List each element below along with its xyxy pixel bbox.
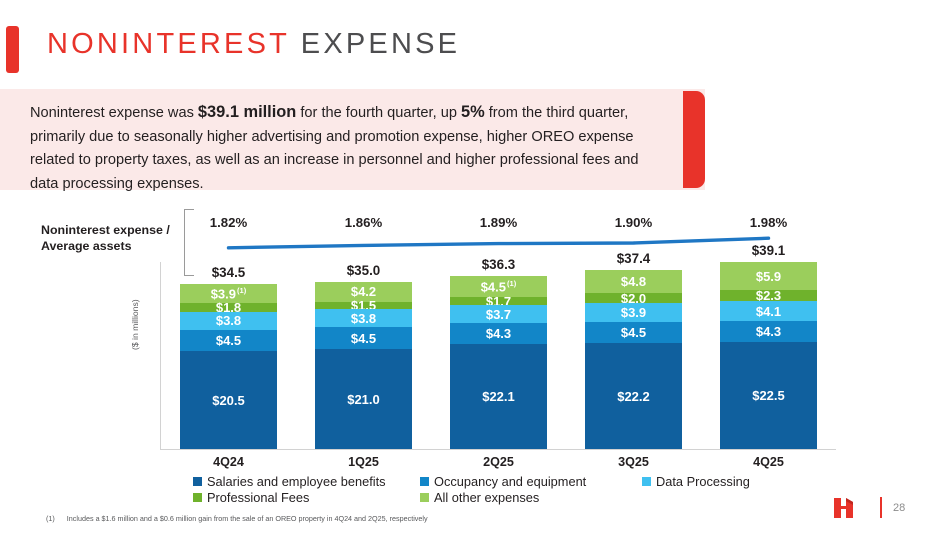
bar-segment[interactable]: $22.1 (450, 344, 547, 450)
legend-item[interactable]: Professional Fees (193, 490, 420, 505)
bar-segment-label: $4.5 (351, 332, 376, 345)
bar-segment[interactable]: $20.5 (180, 351, 277, 450)
bar-segment[interactable]: $3.8 (315, 309, 412, 327)
legend-item[interactable]: Data Processing (642, 474, 762, 489)
bar-segment[interactable]: $4.5 (180, 330, 277, 352)
legend-label: Professional Fees (207, 490, 309, 505)
ratio-value: 1.98% (734, 215, 804, 230)
h-logo-icon (832, 496, 862, 520)
x-axis-label: 4Q24 (180, 455, 277, 469)
bar-segment[interactable]: $3.9 (585, 303, 682, 322)
bar-segment[interactable]: $1.7 (450, 297, 547, 305)
bar-segment-label: $3.9(1) (211, 287, 247, 300)
bar-segment-label: $4.2 (351, 285, 376, 298)
bar-segment[interactable]: $4.8 (585, 270, 682, 293)
ratio-value: 1.86% (329, 215, 399, 230)
legend-item[interactable]: Occupancy and equipment (420, 474, 642, 489)
chart-legend: Salaries and employee benefitsOccupancy … (193, 473, 793, 505)
ratio-value: 1.89% (464, 215, 534, 230)
bar-segment-label: $4.5(1) (481, 280, 517, 293)
bar-total-label: $37.4 (585, 251, 682, 270)
bar-group[interactable]: $39.1$5.9$2.3$4.1$4.3$22.5 (720, 262, 817, 450)
bar-segment[interactable]: $2.0 (585, 293, 682, 303)
callout-bold-percent: 5% (461, 103, 485, 121)
bar-total-label: $39.1 (720, 243, 817, 262)
bar-segment[interactable]: $1.5 (315, 302, 412, 309)
bar-total-label: $35.0 (315, 263, 412, 282)
legend-label: Salaries and employee benefits (207, 474, 386, 489)
x-axis-label: 4Q25 (720, 455, 817, 469)
bar-segment-label: $4.3 (756, 325, 781, 338)
bar-group[interactable]: $35.0$4.2$1.5$3.8$4.5$21.0 (315, 282, 412, 450)
bar-segment-label: $4.3 (486, 327, 511, 340)
bar-segment-label: $4.5 (216, 334, 241, 347)
bar-segment-label: $3.8 (351, 312, 376, 325)
footer-divider (880, 497, 882, 518)
stacked-bar-chart: $34.5$3.9(1)$1.8$3.8$4.5$20.5$35.0$4.2$1… (160, 262, 836, 450)
bar-segment[interactable]: $4.5 (585, 322, 682, 344)
y-axis-title: ($ in millions) (130, 299, 140, 350)
title-accent-bar (6, 26, 19, 73)
bar-segment-label: $3.9 (621, 306, 646, 319)
callout-part-1: Noninterest expense was (30, 105, 198, 121)
bar-segment-label: $21.0 (347, 393, 380, 406)
ratio-value: 1.82% (194, 215, 264, 230)
legend-swatch (420, 493, 429, 502)
callout-accent-bar (683, 91, 705, 188)
bar-segment-label: $4.5 (621, 326, 646, 339)
page-title-highlight: NONINTEREST (47, 28, 290, 60)
callout-part-2: for the fourth quarter, up (296, 105, 461, 121)
callout-bold-amount: $39.1 million (198, 103, 296, 121)
bar-group[interactable]: $37.4$4.8$2.0$3.9$4.5$22.2 (585, 270, 682, 450)
callout-text: Noninterest expense was $39.1 million fo… (30, 101, 660, 196)
footnote-marker: (1) (46, 514, 55, 523)
bar-segment-label: $4.1 (756, 305, 781, 318)
bar-segment-label: $20.5 (212, 394, 245, 407)
bar-total-label: $34.5 (180, 265, 277, 284)
legend-item[interactable]: Salaries and employee benefits (193, 474, 420, 489)
legend-label: Data Processing (656, 474, 750, 489)
ratio-label-line-1: Noninterest expense / (41, 222, 186, 238)
legend-item[interactable]: All other expenses (420, 490, 642, 505)
legend-swatch (193, 493, 202, 502)
bar-segment-label: $22.1 (482, 390, 515, 403)
legend-label: Occupancy and equipment (434, 474, 586, 489)
page-number: 28 (893, 502, 905, 514)
legend-row: Professional FeesAll other expenses (193, 489, 793, 505)
page-title: NONINTEREST EXPENSE (47, 28, 460, 61)
bar-segment[interactable]: $4.1 (720, 301, 817, 321)
bar-total-label: $36.3 (450, 257, 547, 276)
bar-segment-label: $5.9 (756, 270, 781, 283)
ratio-label: Noninterest expense / Average assets (41, 222, 186, 254)
bar-segment[interactable]: $22.5 (720, 342, 817, 450)
legend-swatch (420, 477, 429, 486)
bar-segment[interactable]: $4.3 (450, 323, 547, 344)
bar-segment[interactable]: $4.3 (720, 321, 817, 342)
bar-segment[interactable]: $21.0 (315, 349, 412, 450)
bar-segment[interactable]: $5.9 (720, 262, 817, 290)
legend-row: Salaries and employee benefitsOccupancy … (193, 473, 793, 489)
bar-segment[interactable]: $3.8 (180, 312, 277, 330)
bar-segment-label: $4.8 (621, 275, 646, 288)
ratio-label-line-2: Average assets (41, 238, 186, 254)
bar-segment[interactable]: $1.8 (180, 303, 277, 312)
bar-segment[interactable]: $3.7 (450, 305, 547, 323)
legend-label: All other expenses (434, 490, 539, 505)
bar-group[interactable]: $36.3$4.5(1)$1.7$3.7$4.3$22.1 (450, 276, 547, 451)
x-axis-line (160, 449, 836, 450)
bar-group[interactable]: $34.5$3.9(1)$1.8$3.8$4.5$20.5 (180, 284, 277, 450)
bar-segment-label: $3.8 (216, 314, 241, 327)
bar-segment-label: $22.5 (752, 389, 785, 402)
legend-swatch (193, 477, 202, 486)
footnote: (1)Includes a $1.6 million and a $0.6 mi… (46, 514, 428, 523)
bar-segment-footnote-marker: (1) (507, 279, 516, 288)
bar-segment[interactable]: $2.3 (720, 290, 817, 301)
page-title-rest: EXPENSE (290, 28, 461, 60)
ratio-value: 1.90% (599, 215, 669, 230)
bar-segment-label: $3.7 (486, 308, 511, 321)
footnote-text: Includes a $1.6 million and a $0.6 milli… (67, 514, 428, 523)
x-axis-label: 2Q25 (450, 455, 547, 469)
bar-segment[interactable]: $4.5 (315, 327, 412, 349)
bar-segment[interactable]: $22.2 (585, 343, 682, 450)
x-axis-label: 3Q25 (585, 455, 682, 469)
legend-swatch (642, 477, 651, 486)
bar-segment-label: $22.2 (617, 390, 650, 403)
bar-segment-footnote-marker: (1) (237, 286, 246, 295)
x-axis-label: 1Q25 (315, 455, 412, 469)
